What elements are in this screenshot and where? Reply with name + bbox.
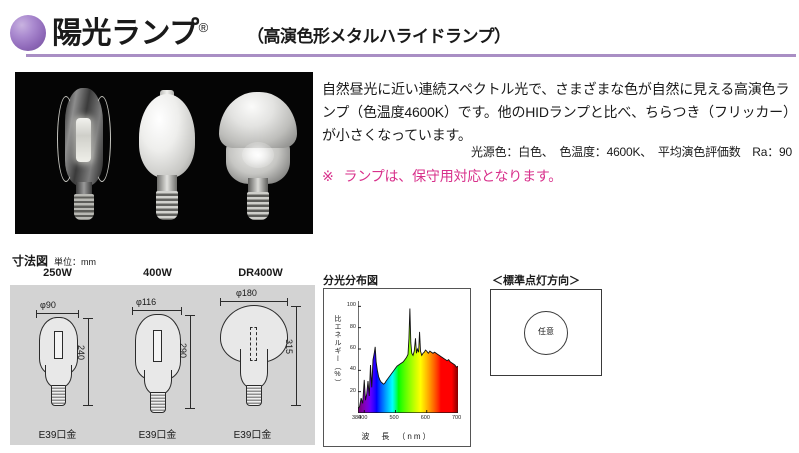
dimension-diameter-label: φ180 bbox=[236, 288, 257, 298]
burning-position-circle-icon: 任意 bbox=[524, 311, 568, 355]
dimension-diameter-label: φ116 bbox=[136, 297, 156, 307]
purple-sphere-bullet-icon bbox=[10, 15, 46, 51]
lamp-frame-right bbox=[93, 96, 111, 182]
maintenance-note: ※ランプは、保守用対応となります。 bbox=[322, 166, 562, 186]
header-divider bbox=[26, 54, 796, 57]
burning-position-value: 任意 bbox=[525, 326, 567, 337]
lamp-photo-reflector bbox=[219, 92, 297, 220]
lamp-screw-base bbox=[74, 194, 94, 220]
lamp-screw-base bbox=[247, 192, 269, 220]
lamp-screw-base-outline bbox=[150, 392, 166, 413]
chart-title: 分光分布図 bbox=[323, 272, 378, 288]
dimension-title: 250W bbox=[10, 267, 105, 279]
chart-y-axis-label: 比エネルギー（%） bbox=[330, 315, 342, 387]
page-title-text: 陽光ランプ bbox=[52, 17, 199, 50]
dimension-height-label: 315 bbox=[284, 339, 294, 354]
lamp-reflector-dome bbox=[219, 92, 297, 148]
diameter-dim-line bbox=[132, 310, 182, 311]
lamp-photo-clear bbox=[51, 88, 117, 220]
dimension-base-label: E39口金 bbox=[10, 426, 105, 441]
burning-position-box: 任意 bbox=[490, 289, 602, 376]
description-text: 自然昼光に近い連続スペクトル光で、さまざまな色が自然に見える高演色ランプ（色温度… bbox=[322, 78, 792, 147]
height-dim-line bbox=[190, 315, 191, 409]
dimension-item-400w: 400W φ116 290 E39口金 bbox=[110, 285, 205, 445]
lamp-screw-base-outline bbox=[51, 385, 66, 406]
lamp-photo-diffuse bbox=[137, 90, 197, 220]
burning-position-heading: ＜標準点灯方向＞ bbox=[492, 272, 580, 288]
spectral-distribution-chart: 比エネルギー（%） 20406080100380400500600700 波 長… bbox=[323, 288, 471, 447]
product-photo bbox=[15, 72, 313, 234]
dimension-height-label: 290 bbox=[178, 343, 188, 358]
dimension-item-250w: 250W φ90 240 E39口金 bbox=[10, 285, 105, 445]
chart-x-tick: 400 bbox=[358, 415, 367, 421]
specification-line: 光源色：白色、 色温度：4600K、 平均演色評価数 Ra：90 bbox=[322, 143, 792, 160]
chart-y-tick: 40 bbox=[350, 367, 356, 373]
height-tick-top bbox=[185, 315, 195, 316]
height-dim-line bbox=[296, 306, 297, 406]
lamp-bulb bbox=[139, 94, 195, 178]
note-text: ランプは、保守用対応となります。 bbox=[344, 168, 563, 184]
height-tick-top bbox=[83, 318, 93, 319]
height-tick-bottom bbox=[291, 405, 301, 406]
note-mark-icon: ※ bbox=[322, 168, 334, 184]
lamp-arc-tube-outline bbox=[153, 330, 162, 362]
lamp-glow bbox=[242, 142, 274, 168]
dimension-title: 400W bbox=[110, 267, 205, 279]
dimension-base-label: E39口金 bbox=[110, 426, 205, 441]
height-tick-bottom bbox=[83, 405, 93, 406]
lamp-frame-left bbox=[57, 96, 75, 182]
lamp-screw-base bbox=[156, 191, 178, 220]
chart-y-tick: 20 bbox=[350, 389, 356, 395]
chart-x-tick: 500 bbox=[390, 415, 399, 421]
dimension-diameter-label: φ90 bbox=[40, 300, 56, 310]
chart-x-tick: 700 bbox=[452, 415, 461, 421]
chart-x-axis-label: 波 長 （nm） bbox=[324, 431, 470, 442]
page-title: 陽光ランプ® bbox=[52, 8, 208, 54]
height-tick-top bbox=[291, 306, 301, 307]
chart-y-tick: 100 bbox=[347, 303, 356, 309]
lamp-arc-tube bbox=[76, 118, 91, 162]
lamp-filament-outline bbox=[250, 327, 257, 361]
chart-x-tick: 600 bbox=[421, 415, 430, 421]
chart-y-tick: 60 bbox=[350, 346, 356, 352]
page-header: 陽光ランプ® （高演色形メタルハライドランプ） bbox=[0, 0, 799, 62]
diameter-dim-line bbox=[220, 301, 288, 302]
lamp-outline-250w bbox=[37, 317, 78, 409]
lamp-outline-400w bbox=[133, 314, 181, 412]
diameter-dim-line bbox=[36, 313, 79, 314]
dimension-panel: 250W φ90 240 E39口金 400W φ116 bbox=[10, 285, 315, 445]
height-tick-bottom bbox=[185, 408, 195, 409]
dimension-height-label: 240 bbox=[76, 345, 86, 360]
dimension-item-dr400w: DR400W φ180 315 E39口金 bbox=[208, 285, 313, 445]
dimension-title: DR400W bbox=[208, 267, 313, 279]
registered-trademark-icon: ® bbox=[199, 20, 208, 35]
diameter-tick-right bbox=[181, 307, 182, 315]
chart-plot-area: 20406080100380400500600700 bbox=[358, 301, 458, 413]
lamp-outline-dr400w bbox=[220, 305, 288, 415]
chart-y-tick: 80 bbox=[350, 325, 356, 331]
spectrum-curve bbox=[358, 301, 458, 413]
dimension-base-label: E39口金 bbox=[200, 426, 305, 441]
lamp-arc-tube-outline bbox=[54, 331, 63, 359]
diameter-tick-right bbox=[78, 310, 79, 318]
page-subtitle: （高演色形メタルハライドランプ） bbox=[247, 22, 511, 47]
height-dim-line bbox=[88, 318, 89, 406]
lamp-screw-base-outline bbox=[246, 385, 262, 406]
